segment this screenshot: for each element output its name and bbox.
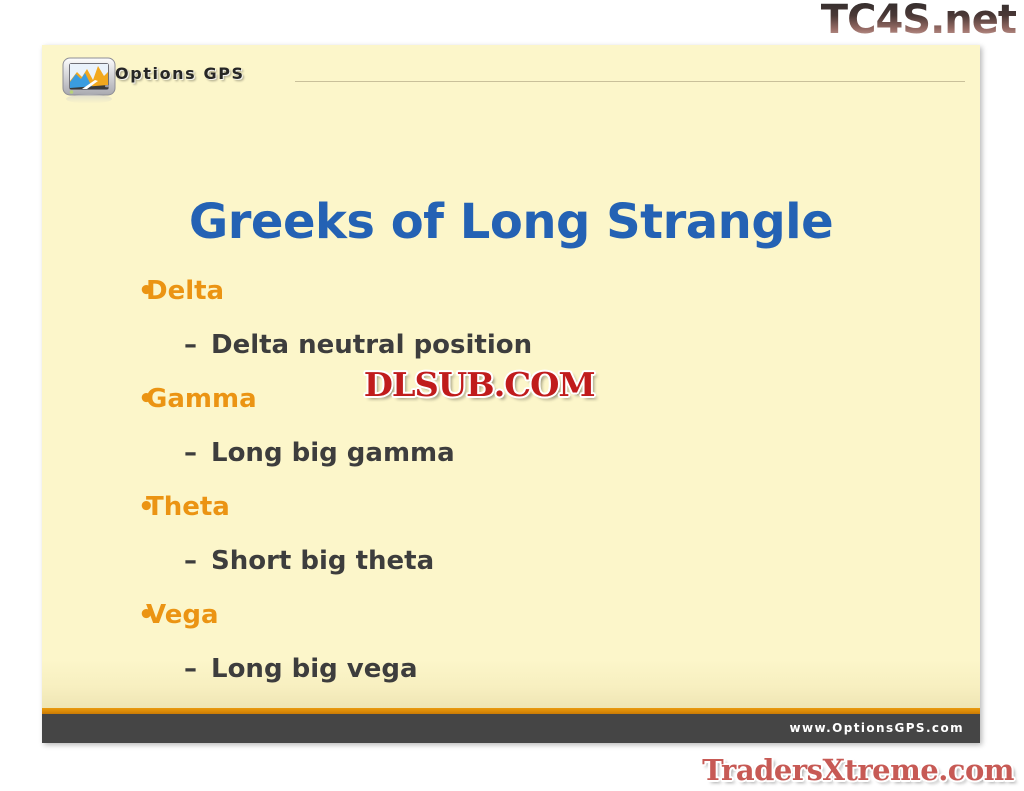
sub-bullet-item-1: – Long big gamma xyxy=(94,425,974,481)
bullet-dot-icon: • xyxy=(138,481,155,533)
bullet-item-3: • Vega xyxy=(94,589,974,641)
bullet-label-2: Theta xyxy=(146,481,230,533)
sub-bullet-dash-icon: – xyxy=(184,533,197,589)
sub-bullet-dash-icon: – xyxy=(184,317,197,373)
sub-bullet-item-3: – Long big vega xyxy=(94,641,974,697)
bullet-dot-icon: • xyxy=(138,589,155,641)
bullet-dot-icon: • xyxy=(138,373,155,425)
sub-bullet-item-2: – Short big theta xyxy=(94,533,974,589)
bullet-item-0: • Delta xyxy=(94,265,974,317)
page-title: Greeks of Long Strangle xyxy=(42,194,980,250)
sub-bullet-label-2: Short big theta xyxy=(211,533,434,589)
bullet-label-3: Vega xyxy=(146,589,219,641)
bullet-label-0: Delta xyxy=(146,265,224,317)
header-divider xyxy=(295,81,965,82)
sub-bullet-dash-icon: – xyxy=(184,641,197,697)
bullet-label-1: Gamma xyxy=(146,373,257,425)
sub-bullet-label-3: Long big vega xyxy=(211,641,418,697)
watermark-tc4s: TC4S.net xyxy=(821,0,1016,42)
brand-label: Options GPS xyxy=(115,64,245,83)
bullet-list: • Delta – Delta neutral position • Gamma… xyxy=(94,265,974,697)
bullet-item-2: • Theta xyxy=(94,481,974,533)
bullet-dot-icon: • xyxy=(138,265,155,317)
footer-website-url: www.OptionsGPS.com xyxy=(789,721,964,735)
watermark-tradersxtreme: TradersXtreme.com xyxy=(702,753,1014,787)
slide-footer: www.OptionsGPS.com xyxy=(42,714,980,743)
slide-header: Options GPS xyxy=(42,45,980,103)
sub-bullet-label-1: Long big gamma xyxy=(211,425,455,481)
gps-device-icon xyxy=(60,55,120,105)
watermark-dlsub: DLSUB.COM xyxy=(364,367,595,403)
sub-bullet-dash-icon: – xyxy=(184,425,197,481)
